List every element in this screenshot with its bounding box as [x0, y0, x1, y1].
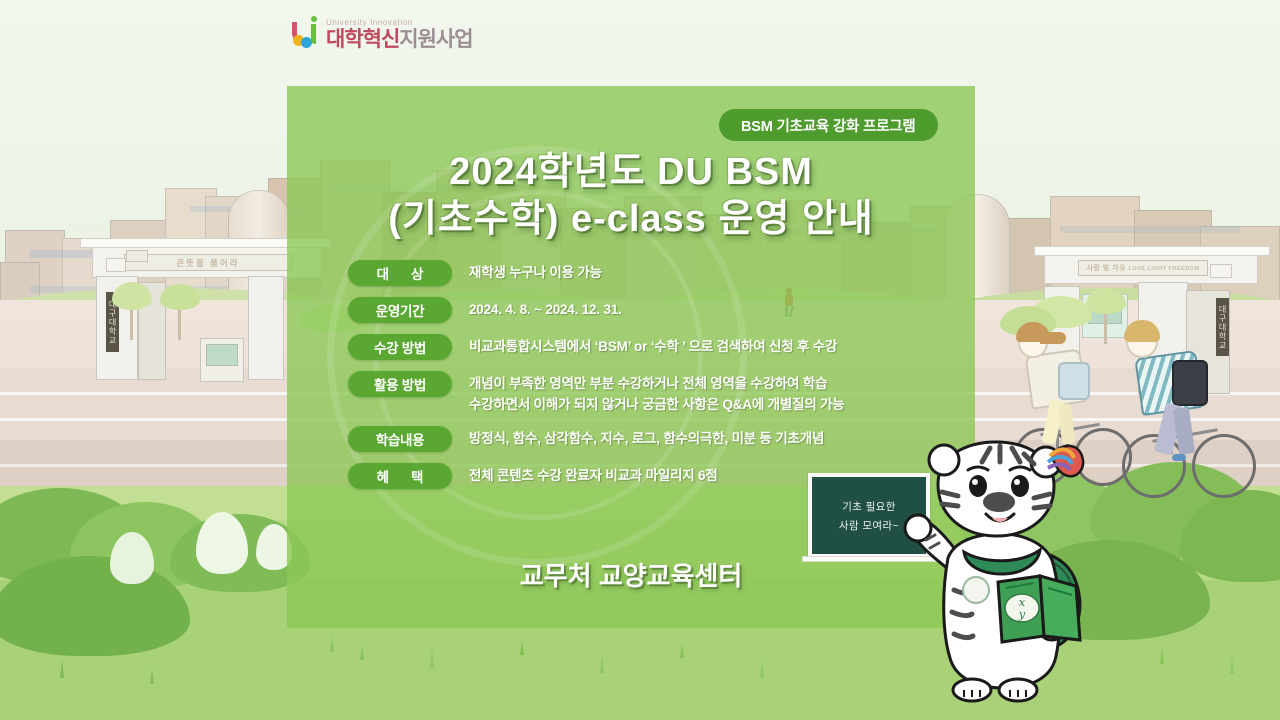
cyclist-leg — [1058, 403, 1075, 444]
grass-tuft — [430, 650, 434, 668]
info-row-value: 방정식, 함수, 삼각함수, 지수, 로그, 함수의극한, 미분 등 기초개념 — [452, 426, 948, 450]
bicycle-wheel — [1122, 434, 1186, 498]
info-rows-list: 대 상 재학생 누구나 이용 가능 운영기간 2024. 4. 8. ~ 202… — [348, 260, 948, 500]
info-row-value-line: 재학생 누구나 이용 가능 — [469, 263, 948, 284]
grass-tuft — [600, 656, 604, 673]
logo-text-group: University Innovation 대학혁신지원사업 — [326, 19, 473, 50]
logo-korean-secondary: 지원사업 — [399, 28, 472, 51]
logo-korean-text: 대학혁신지원사업 — [326, 29, 473, 50]
gate-beam-right — [1034, 246, 1270, 256]
gate-plaque-left: 큰뜻을 품어라 — [124, 254, 292, 271]
grass-tuft — [1160, 648, 1164, 664]
grass-tuft — [1230, 656, 1234, 674]
tree-canopy — [112, 282, 152, 310]
grass-tuft — [330, 636, 334, 652]
grass-tuft — [360, 646, 364, 660]
book-label-denominator: y — [1018, 608, 1026, 621]
window-strip — [1060, 226, 1240, 233]
cyclist-hair-ponytail — [1040, 332, 1066, 344]
info-row-value-line: 방정식, 함수, 삼각함수, 지수, 로그, 함수의극한, 미분 등 기초개념 — [469, 429, 948, 450]
info-row-label: 대 상 — [348, 260, 452, 286]
grass-tuft — [150, 668, 154, 684]
gate-pillar-left — [248, 276, 284, 380]
info-row-value-line: 2024. 4. 8. ~ 2024. 12. 31. — [469, 300, 948, 321]
title-line-1: 2024학년도 DU BSM — [287, 149, 975, 196]
ui-logo-mark-icon — [292, 16, 322, 50]
tree-canopy — [160, 284, 200, 310]
label-char: 상 — [411, 263, 423, 283]
white-tiger-mascot: x y — [880, 440, 1130, 720]
info-row-value: 재학생 누구나 이용 가능 — [452, 260, 948, 284]
info-row-value: 2024. 4. 8. ~ 2024. 12. 31. — [452, 297, 948, 321]
info-row: 대 상 재학생 누구나 이용 가능 — [348, 260, 948, 286]
info-row-label: 혜 택 — [348, 463, 452, 489]
label-char: 택 — [411, 466, 423, 486]
program-badge: BSM 기초교육 강화 프로그램 — [719, 109, 938, 141]
logo-korean-primary: 대학혁신 — [326, 28, 399, 51]
bicycle-pedal — [1172, 454, 1186, 461]
title-line-2: (기초수학) e-class 운영 안내 — [287, 196, 975, 243]
info-row-value-line: 개념이 부족한 영역만 부분 수강하거나 전체 영역을 수강하여 학습 — [469, 374, 948, 395]
gate-plaque-right-ko: 사랑 빛 자유 — [1086, 265, 1126, 272]
grass-tuft — [680, 644, 684, 658]
info-row-label: 수강 방법 — [348, 334, 452, 360]
label-char: 혜 — [377, 466, 389, 486]
label-char: 대 — [377, 263, 389, 283]
grass-tuft — [520, 640, 524, 655]
guard-booth-window — [206, 344, 238, 366]
logo-english-text: University Innovation — [326, 19, 473, 27]
cyclist-figure-right — [1122, 304, 1258, 514]
gate-lamp-right — [1210, 264, 1232, 278]
info-row-value: 비교과통합시스템에서 ‘BSM’ or ‘수학 ’ 으로 검색하여 신청 후 수… — [452, 334, 948, 358]
info-row-value-line: 수강하면서 이해가 되지 않거나 궁금한 사항은 Q&A에 개별질의 가능 — [469, 395, 948, 416]
info-row-label: 학습내용 — [348, 426, 452, 452]
university-innovation-logo: University Innovation 대학혁신지원사업 — [292, 16, 473, 50]
info-row: 학습내용 방정식, 함수, 삼각함수, 지수, 로그, 함수의극한, 미분 등 … — [348, 426, 948, 452]
grass-tuft — [760, 660, 764, 678]
page-title: 2024학년도 DU BSM (기초수학) e-class 운영 안내 — [287, 149, 975, 243]
info-row-label: 활용 방법 — [348, 371, 452, 397]
info-row-value-line: 비교과통합시스템에서 ‘BSM’ or ‘수학 ’ 으로 검색하여 신청 후 수… — [469, 337, 948, 358]
info-row: 활용 방법 개념이 부족한 영역만 부분 수강하거나 전체 영역을 수강하여 학… — [348, 371, 948, 415]
poster-canvas: 큰뜻을 품어라 대구대학교 사랑 빛 자유 LOVE LIGHT FREEDOM… — [0, 0, 1280, 720]
gate-lamp-left — [106, 258, 126, 272]
cyclist-backpack — [1058, 362, 1090, 400]
info-row-label: 운영기간 — [348, 297, 452, 323]
mascot-svg: x y — [880, 440, 1130, 720]
gate-plaque-right: 사랑 빛 자유 LOVE LIGHT FREEDOM — [1078, 260, 1208, 276]
info-row: 수강 방법 비교과통합시스템에서 ‘BSM’ or ‘수학 ’ 으로 검색하여 … — [348, 334, 948, 360]
cyclist-hair — [1124, 320, 1160, 342]
gate-plaque-right-en: LOVE LIGHT FREEDOM — [1129, 266, 1200, 272]
bicycle-wheel — [1192, 434, 1256, 498]
info-row: 운영기간 2024. 4. 8. ~ 2024. 12. 31. — [348, 297, 948, 323]
info-row-value: 개념이 부족한 영역만 부분 수강하거나 전체 영역을 수강하여 학습 수강하면… — [452, 371, 948, 415]
grass-tuft — [60, 660, 64, 678]
cyclist-backpack — [1172, 360, 1208, 406]
gate-lamp-left — [126, 250, 148, 262]
